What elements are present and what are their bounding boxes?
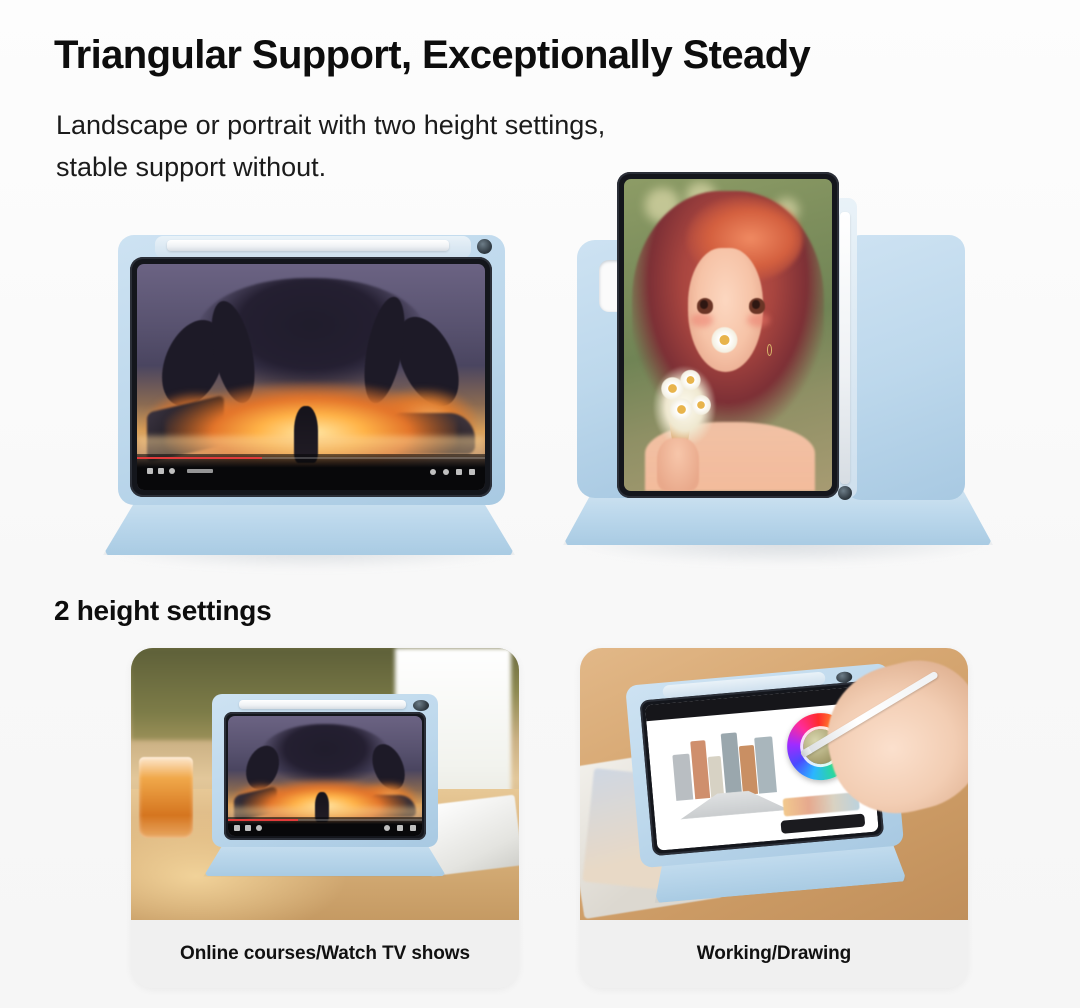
hero-landscape-tablet [95,225,525,570]
section-title: 2 height settings [54,595,271,627]
camera-lens-icon [477,239,492,254]
app-bottom-toolbar[interactable] [780,813,865,833]
fullscreen-icon[interactable] [410,825,416,831]
hero-portrait-tablet [555,150,1010,570]
tablet-display [228,716,423,836]
video-controls-left[interactable] [147,468,213,474]
camera-lens-icon [838,486,852,500]
artwork-eye-right [749,298,766,314]
card-working-drawing[interactable]: Working/Drawing [580,648,968,988]
artwork-daisy-in-mouth [711,326,738,354]
video-controls-right[interactable] [384,825,416,831]
artwork-hand [657,438,699,491]
scene-tablet [212,694,437,876]
scene-tea-glass [139,757,193,839]
video-player-bar[interactable] [228,817,423,836]
subtitle-line-2: stable support without. [56,146,605,188]
sketch-artwork [666,722,798,820]
artwork-eye-left [697,298,714,314]
page-title: Triangular Support, Exceptionally Steady [54,33,810,78]
video-progress-bar[interactable] [137,457,485,459]
apple-pencil [840,212,850,484]
airplay-icon[interactable] [397,825,403,831]
tablet-screen-bezel [130,257,492,497]
card-caption-label: Working/Drawing [580,920,968,988]
tablet-screen-bezel [224,712,427,840]
picture-in-picture-icon[interactable] [443,469,449,475]
tablet-display [624,179,832,491]
case-back-flap-right [845,235,965,500]
card-caption-label: Online courses/Watch TV shows [131,920,519,988]
card-photo [580,648,968,920]
card-photo [131,648,519,920]
video-controls-right[interactable] [430,469,475,475]
apple-pencil [239,700,406,709]
next-track-icon[interactable] [245,825,251,831]
pause-icon[interactable] [147,468,153,474]
video-artwork [137,264,485,490]
tablet-screen-bezel [617,172,839,498]
video-player-bar[interactable] [137,454,485,490]
camera-lens-icon [413,700,429,711]
pause-icon[interactable] [234,825,240,831]
captions-icon[interactable] [430,469,436,475]
page-subtitle: Landscape or portrait with two height se… [56,104,605,188]
card-online-courses[interactable]: Online courses/Watch TV shows [131,648,519,988]
scene-desk [131,648,519,920]
scene-desk [580,648,968,920]
fullscreen-icon[interactable] [469,469,475,475]
settings-icon[interactable] [169,468,175,474]
airplay-icon[interactable] [456,469,462,475]
apple-pencil [167,240,449,251]
video-timestamp [187,469,213,473]
captions-icon[interactable] [384,825,390,831]
subtitle-line-1: Landscape or portrait with two height se… [56,104,605,146]
next-track-icon[interactable] [158,468,164,474]
product-feature-page: Triangular Support, Exceptionally Steady… [0,0,1080,1008]
settings-icon[interactable] [256,825,262,831]
illustration-artwork [624,179,832,491]
artwork-earring [767,344,772,355]
video-controls-left[interactable] [234,825,262,831]
video-artwork [228,716,423,836]
video-progress-bar[interactable] [228,819,423,821]
tablet-display [137,264,485,490]
